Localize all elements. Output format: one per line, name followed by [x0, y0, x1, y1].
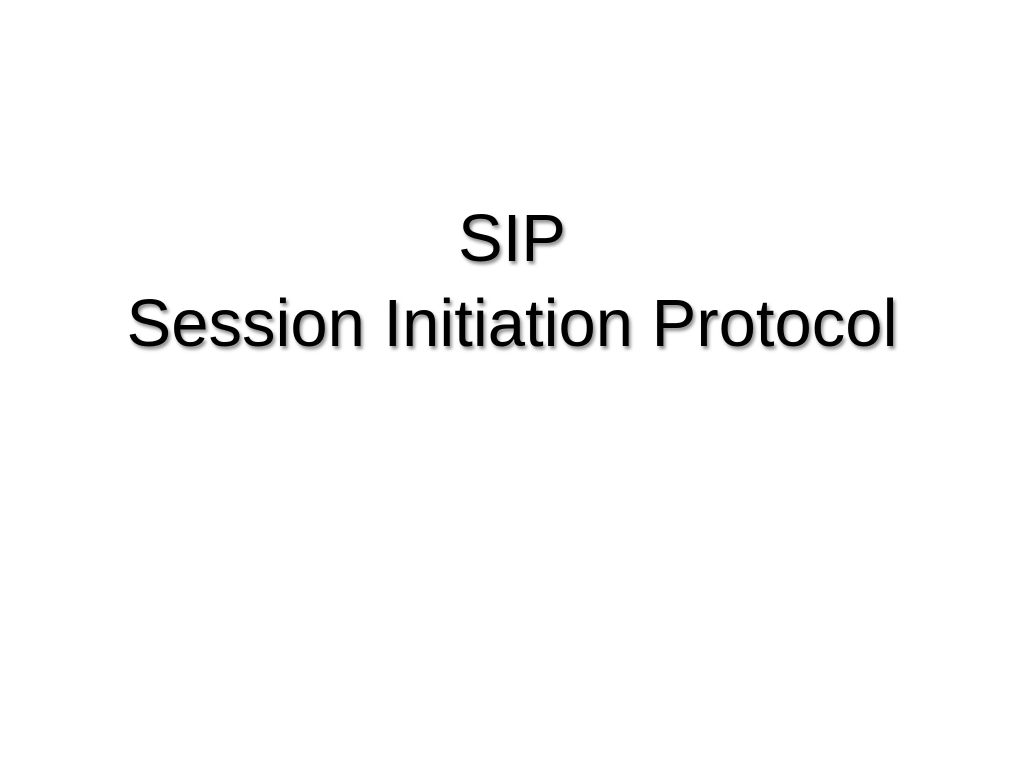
title-line-acronym: SIP [0, 196, 1024, 281]
slide-title: SIP Session Initiation Protocol [0, 196, 1024, 366]
title-slide: SIP Session Initiation Protocol [0, 0, 1024, 768]
title-line-expansion: Session Initiation Protocol [0, 281, 1024, 366]
